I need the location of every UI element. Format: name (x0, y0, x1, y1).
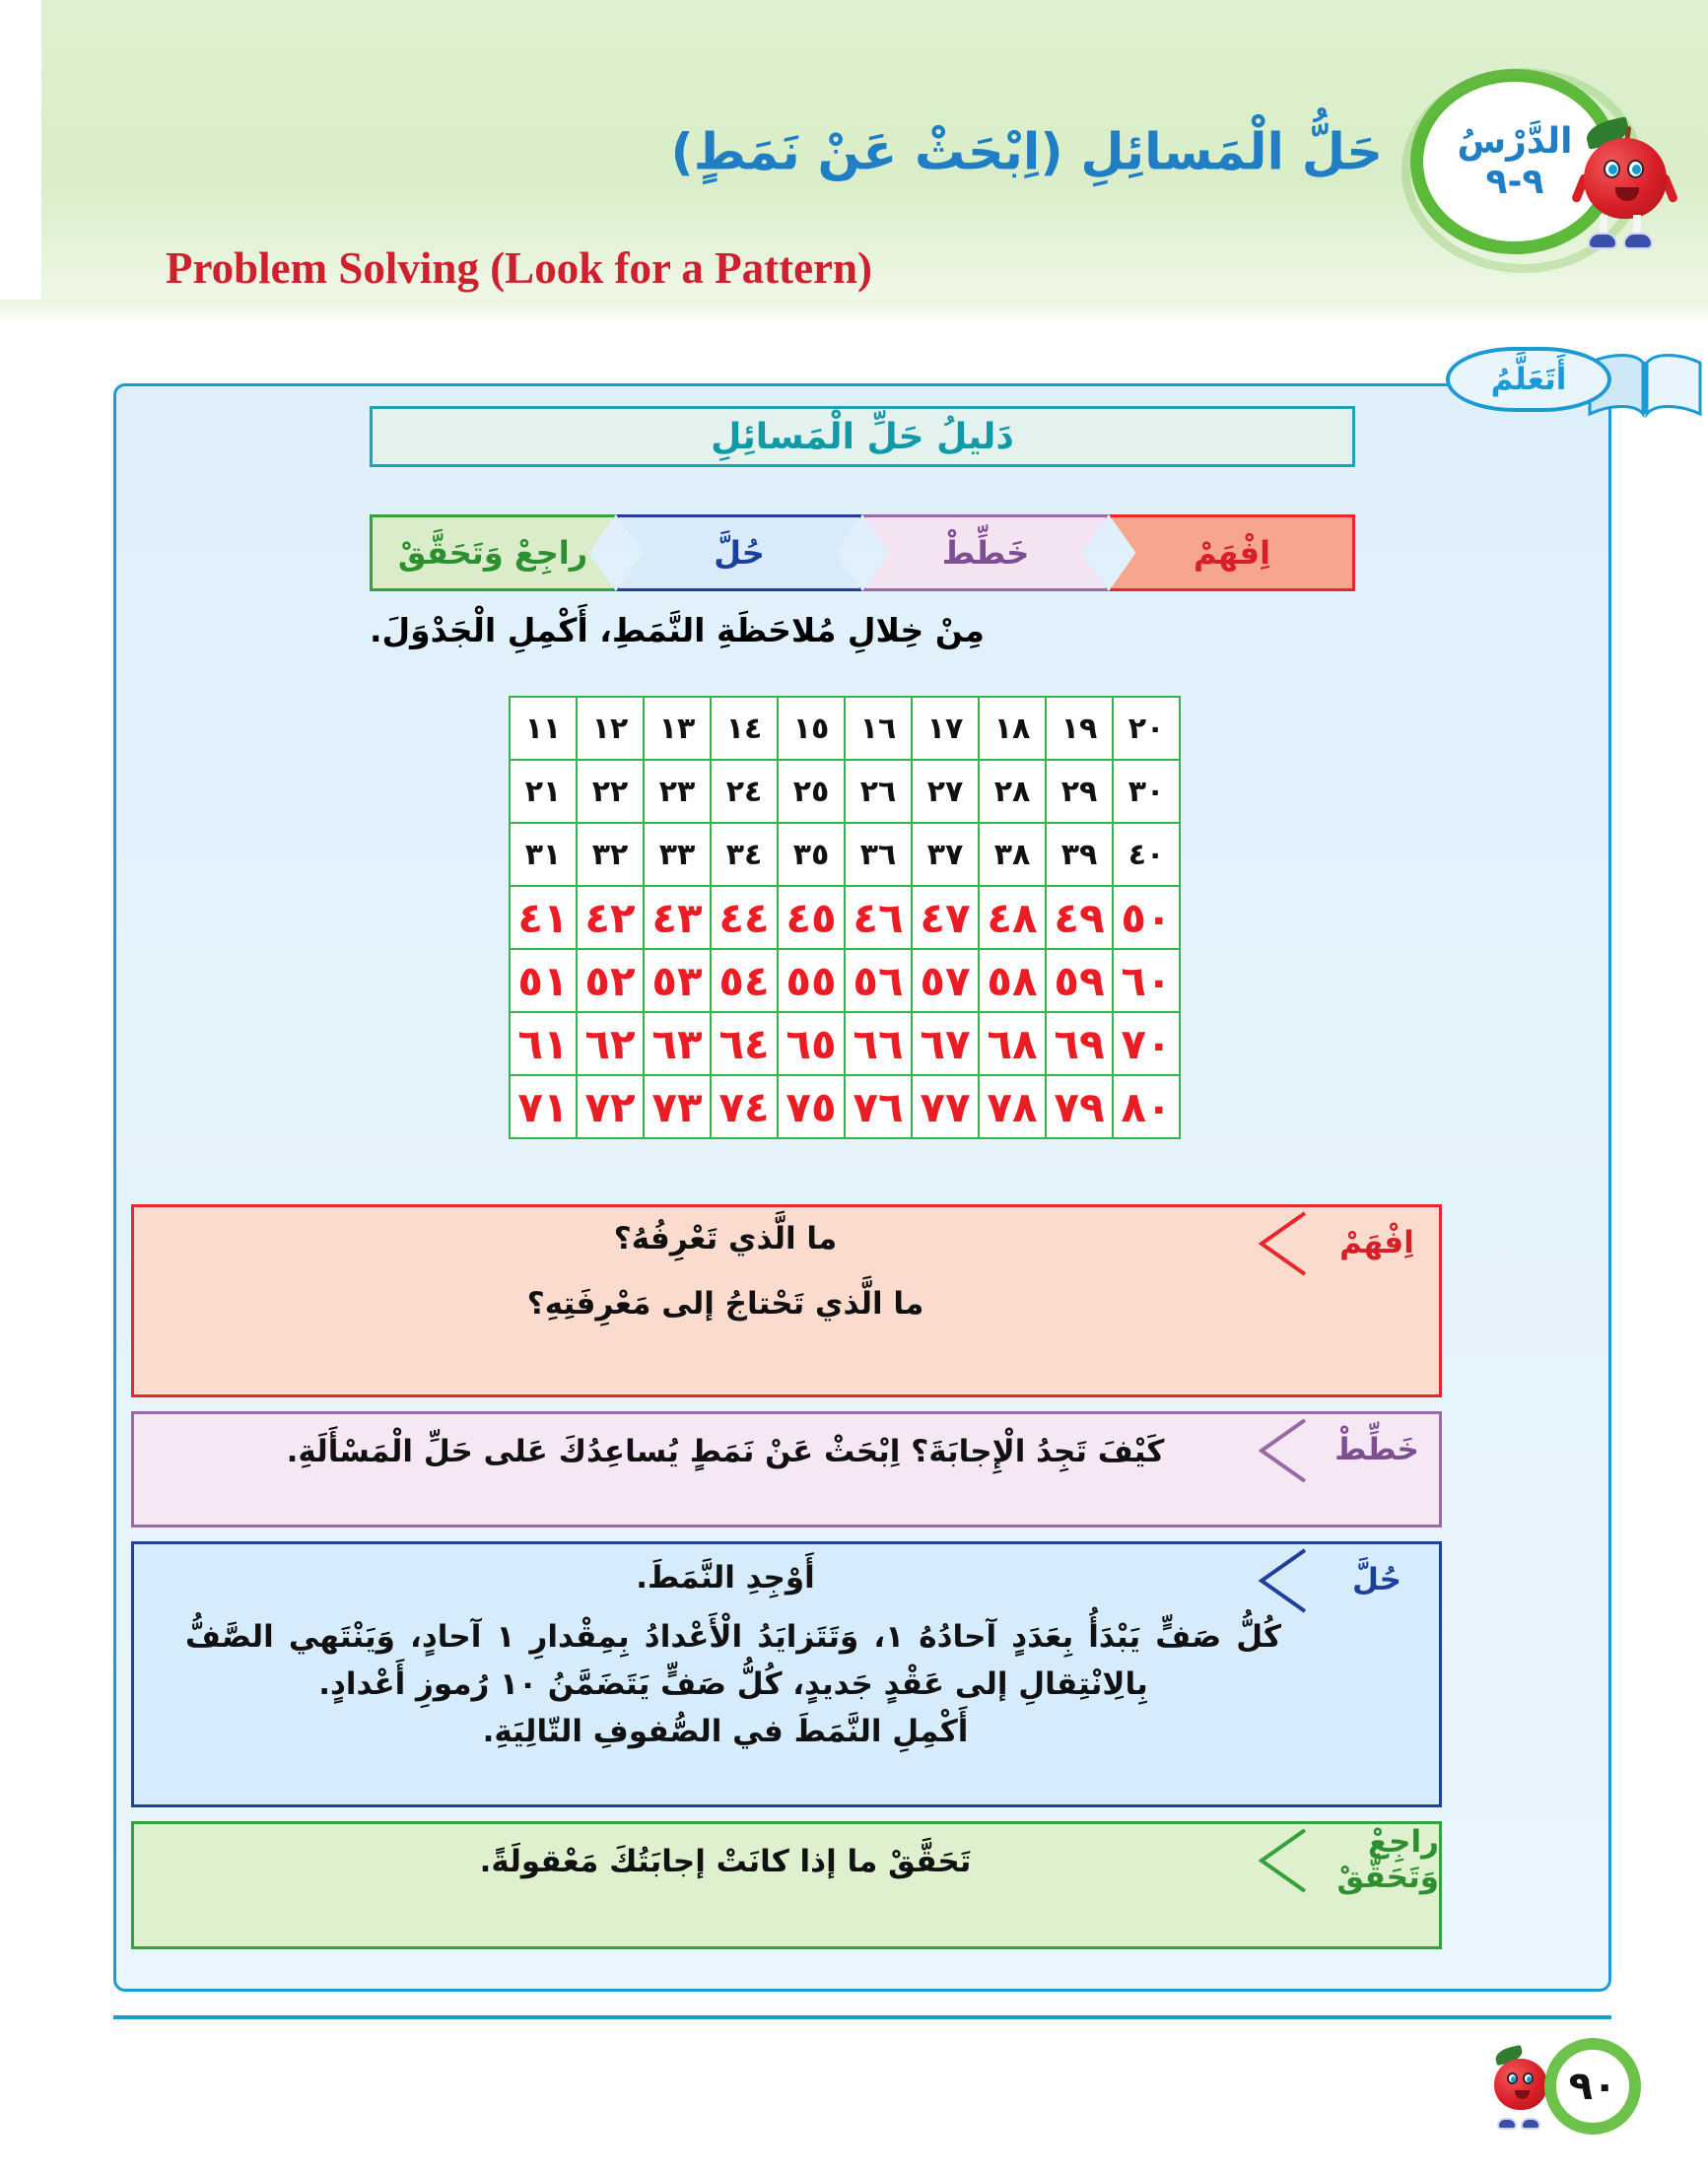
table-cell-answer[interactable]: ٧٦ (845, 1075, 912, 1138)
table-cell-given: ٣٧ (912, 823, 979, 886)
table-cell-answer[interactable]: ٥٩ (1046, 949, 1113, 1012)
step-label-solve: حُلَّ (714, 534, 765, 572)
table-row: ٤٠٣٩٣٨٣٧٣٦٣٥٣٤٣٣٣٢٣١ (510, 823, 1180, 886)
table-cell-answer[interactable]: ٤٣ (644, 886, 711, 949)
chevron-left-icon-review (1254, 1828, 1315, 1893)
table-cell-answer[interactable]: ٦٨ (979, 1012, 1046, 1075)
table-cell-answer[interactable]: ٤٧ (912, 886, 979, 949)
table-cell-given: ٤٠ (1113, 823, 1180, 886)
solve-pattern-description: كُلُّ صَفٍّ يَبْدَأُ بِعَدَدٍ آحادُهُ ١،… (160, 1613, 1291, 1708)
table-cell-given: ٣٢ (577, 823, 644, 886)
table-cell-answer[interactable]: ٥٧ (912, 949, 979, 1012)
table-cell-answer[interactable]: ٧٣ (644, 1075, 711, 1138)
apple-shoe-left (1588, 233, 1617, 249)
table-cell-answer[interactable]: ٤٢ (577, 886, 644, 949)
table-cell-given: ٢٠ (1113, 697, 1180, 760)
table-row: ٦٠٥٩٥٨٥٧٥٦٥٥٥٤٥٣٥٢٥١ (510, 949, 1180, 1012)
table-cell-answer[interactable]: ٧١ (510, 1075, 577, 1138)
table-cell-given: ٣٥ (778, 823, 845, 886)
table-cell-answer[interactable]: ٧٨ (979, 1075, 1046, 1138)
table-cell-answer[interactable]: ٨٠ (1113, 1075, 1180, 1138)
table-cell-given: ١٣ (644, 697, 711, 760)
table-cell-answer[interactable]: ٤٥ (778, 886, 845, 949)
table-cell-answer[interactable]: ٧٩ (1046, 1075, 1113, 1138)
apple-small-eye-left (1507, 2072, 1518, 2084)
step-chevron-review[interactable]: راجِعْ وَتَحَقَّقْ (370, 514, 616, 591)
table-cell-answer[interactable]: ٦٥ (778, 1012, 845, 1075)
apple-small-shoe-left (1497, 2118, 1517, 2130)
table-cell-answer[interactable]: ٥٣ (644, 949, 711, 1012)
section-body-understand: ما الَّذي تَعْرِفُهُ؟ ما الَّذي تَحْتاجُ… (134, 1207, 1439, 1343)
table-cell-answer[interactable]: ٧٤ (711, 1075, 778, 1138)
section-tag-review: راجِعْ وَتَحَقَّقْ (1315, 1824, 1439, 1895)
table-cell-answer[interactable]: ٤٦ (845, 886, 912, 949)
table-row: ٧٠٦٩٦٨٦٧٦٦٦٥٦٤٦٣٦٢٦١ (510, 1012, 1180, 1075)
page-title-english: Problem Solving (Look for a Pattern) (166, 242, 872, 294)
section-tag-understand: اِفْهَمْ (1315, 1207, 1439, 1278)
apple-eye-right (1627, 160, 1644, 178)
table-cell-answer[interactable]: ٤٩ (1046, 886, 1113, 949)
table-cell-answer[interactable]: ٤١ (510, 886, 577, 949)
apple-small-eye-right (1523, 2072, 1534, 2084)
table-cell-given: ٣٠ (1113, 760, 1180, 823)
page-title-arabic: حَلُّ الْمَسائِلِ (اِبْحَثْ عَنْ نَمَطٍ) (670, 124, 1383, 182)
step-chevron-plan[interactable]: خَطِّطْ (862, 514, 1109, 591)
apple-small-body (1494, 2059, 1547, 2110)
table-row: ٣٠٢٩٢٨٢٧٢٦٢٥٢٤٢٣٢٢٢١ (510, 760, 1180, 823)
number-pattern-table-body: ٢٠١٩١٨١٧١٦١٥١٤١٣١٢١١٣٠٢٩٢٨٢٧٢٦٢٥٢٤٢٣٢٢٢١… (510, 697, 1180, 1138)
table-cell-given: ٣١ (510, 823, 577, 886)
table-cell-answer[interactable]: ٧٧ (912, 1075, 979, 1138)
section-tag-solve: حُلَّ (1315, 1544, 1439, 1615)
lesson-badge-label: الدَّرْسُ (1457, 121, 1572, 162)
table-cell-given: ٢٧ (912, 760, 979, 823)
table-row: ٥٠٤٩٤٨٤٧٤٦٤٥٤٤٤٣٤٢٤١ (510, 886, 1180, 949)
table-cell-answer[interactable]: ٥٢ (577, 949, 644, 1012)
table-cell-answer[interactable]: ٥٤ (711, 949, 778, 1012)
plan-text: كَيْفَ تَجِدُ الْإِجابَةَ؟ اِبْحَثْ عَنْ… (160, 1428, 1291, 1475)
table-cell-given: ١٧ (912, 697, 979, 760)
apple-body (1584, 138, 1667, 219)
table-cell-given: ١٥ (778, 697, 845, 760)
table-cell-given: ٢٢ (577, 760, 644, 823)
footer-divider (113, 2015, 1611, 2019)
number-pattern-table: ٢٠١٩١٨١٧١٦١٥١٤١٣١٢١١٣٠٢٩٢٨٢٧٢٦٢٥٢٤٢٣٢٢٢١… (509, 696, 1181, 1139)
chevron-left-icon-solve (1254, 1548, 1315, 1613)
table-cell-given: ٢٣ (644, 760, 711, 823)
table-cell-answer[interactable]: ٦٢ (577, 1012, 644, 1075)
problem-solving-guide-title: دَليلُ حَلِّ الْمَسائِلِ (370, 406, 1355, 467)
table-cell-given: ٢٤ (711, 760, 778, 823)
section-tag-plan: خَطِّطْ (1315, 1414, 1439, 1485)
understand-question-2: ما الَّذي تَحْتاجُ إلى مَعْرِفَتِهِ؟ (160, 1280, 1291, 1327)
table-cell-given: ٢٩ (1046, 760, 1113, 823)
table-cell-answer[interactable]: ٤٤ (711, 886, 778, 949)
table-cell-given: ٣٩ (1046, 823, 1113, 886)
section-body-plan: كَيْفَ تَجِدُ الْإِجابَةَ؟ اِبْحَثْ عَنْ… (134, 1414, 1439, 1491)
table-cell-answer[interactable]: ٦٣ (644, 1012, 711, 1075)
table-cell-given: ٣٣ (644, 823, 711, 886)
table-cell-given: ٣٤ (711, 823, 778, 886)
step-label-understand: اِفْهَمْ (1194, 534, 1270, 572)
section-understand: اِفْهَمْ ما الَّذي تَعْرِفُهُ؟ ما الَّذي… (131, 1204, 1442, 1397)
table-cell-given: ١٤ (711, 697, 778, 760)
review-text: تَحَقَّقْ ما إذا كانَتْ إجابَتُكَ مَعْقو… (160, 1838, 1291, 1885)
understand-question-1: ما الَّذي تَعْرِفُهُ؟ (160, 1215, 1291, 1262)
header-left-notch (0, 0, 41, 325)
table-cell-given: ١١ (510, 697, 577, 760)
section-solve: حُلَّ أَوْجِدِ النَّمَطَ. كُلُّ صَفٍّ يَ… (131, 1541, 1442, 1807)
step-label-plan: خَطِّطْ (942, 534, 1030, 572)
page-number: ٩٠ (1544, 2038, 1641, 2135)
table-cell-answer[interactable]: ٥٥ (778, 949, 845, 1012)
table-cell-given: ٣٨ (979, 823, 1046, 886)
table-cell-given: ١٦ (845, 697, 912, 760)
table-cell-answer[interactable]: ٥٦ (845, 949, 912, 1012)
table-cell-given: ١٨ (979, 697, 1046, 760)
step-chevron-understand[interactable]: اِفْهَمْ (1109, 514, 1355, 591)
chevron-left-icon-understand (1254, 1211, 1315, 1276)
table-cell-given: ٢٥ (778, 760, 845, 823)
table-row: ٢٠١٩١٨١٧١٦١٥١٤١٣١٢١١ (510, 697, 1180, 760)
table-cell-answer[interactable]: ٦٩ (1046, 1012, 1113, 1075)
chevron-left-icon-plan (1254, 1418, 1315, 1483)
table-cell-answer[interactable]: ٥٠ (1113, 886, 1180, 949)
table-cell-answer[interactable]: ٦٦ (845, 1012, 912, 1075)
table-cell-answer[interactable]: ٧٥ (778, 1075, 845, 1138)
table-cell-given: ٣٦ (845, 823, 912, 886)
table-cell-given: ٢٦ (845, 760, 912, 823)
apple-mascot-icon (1570, 112, 1680, 255)
solve-complete-instruction: أَكْمِلِ النَّمَطَ في الصُّفوفِ التّالِي… (160, 1708, 1291, 1755)
table-cell-given: ٢١ (510, 760, 577, 823)
section-review: راجِعْ وَتَحَقَّقْ تَحَقَّقْ ما إذا كانَ… (131, 1821, 1442, 1949)
section-body-solve: أَوْجِدِ النَّمَطَ. كُلُّ صَفٍّ يَبْدَأُ… (134, 1544, 1439, 1771)
step-chevron-solve[interactable]: حُلَّ (616, 514, 862, 591)
page-footer: ٩٠ (1420, 2038, 1647, 2146)
solve-find-pattern: أَوْجِدِ النَّمَطَ. (160, 1554, 1291, 1601)
table-instruction-text: مِنْ خِلالِ مُلاحَظَةِ النَّمَطِ، أَكْمِ… (370, 611, 1355, 649)
table-cell-answer[interactable]: ٦٠ (1113, 949, 1180, 1012)
table-row: ٨٠٧٩٧٨٧٧٧٦٧٥٧٤٧٣٧٢٧١ (510, 1075, 1180, 1138)
section-body-review: تَحَقَّقْ ما إذا كانَتْ إجابَتُكَ مَعْقو… (134, 1824, 1439, 1901)
table-cell-answer[interactable]: ٦١ (510, 1012, 577, 1075)
apple-eye-left (1604, 160, 1620, 178)
table-cell-answer[interactable]: ٦٤ (711, 1012, 778, 1075)
tab-learn[interactable]: أَتَعَلَّمُ (1446, 347, 1611, 412)
table-cell-answer[interactable]: ٦٧ (912, 1012, 979, 1075)
step-label-review: راجِعْ وَتَحَقَّقْ (398, 534, 587, 572)
table-cell-given: ١٩ (1046, 697, 1113, 760)
table-cell-given: ٢٨ (979, 760, 1046, 823)
apple-shoe-right (1623, 233, 1653, 249)
table-cell-answer[interactable]: ٧٢ (577, 1075, 644, 1138)
table-cell-answer[interactable]: ٥٨ (979, 949, 1046, 1012)
table-cell-answer[interactable]: ٥١ (510, 949, 577, 1012)
problem-solving-steps-banner: اِفْهَمْ خَطِّطْ حُلَّ راجِعْ وَتَحَقَّق… (370, 514, 1355, 591)
table-cell-answer[interactable]: ٤٨ (979, 886, 1046, 949)
lesson-badge-number: ٩-٩ (1486, 162, 1544, 202)
table-cell-given: ١٢ (577, 697, 644, 760)
apple-small-shoe-right (1521, 2118, 1540, 2130)
lesson-badge: الدَّرْسُ ٩-٩ (1401, 61, 1686, 263)
table-cell-answer[interactable]: ٧٠ (1113, 1012, 1180, 1075)
section-plan: خَطِّطْ كَيْفَ تَجِدُ الْإِجابَةَ؟ اِبْح… (131, 1411, 1442, 1528)
